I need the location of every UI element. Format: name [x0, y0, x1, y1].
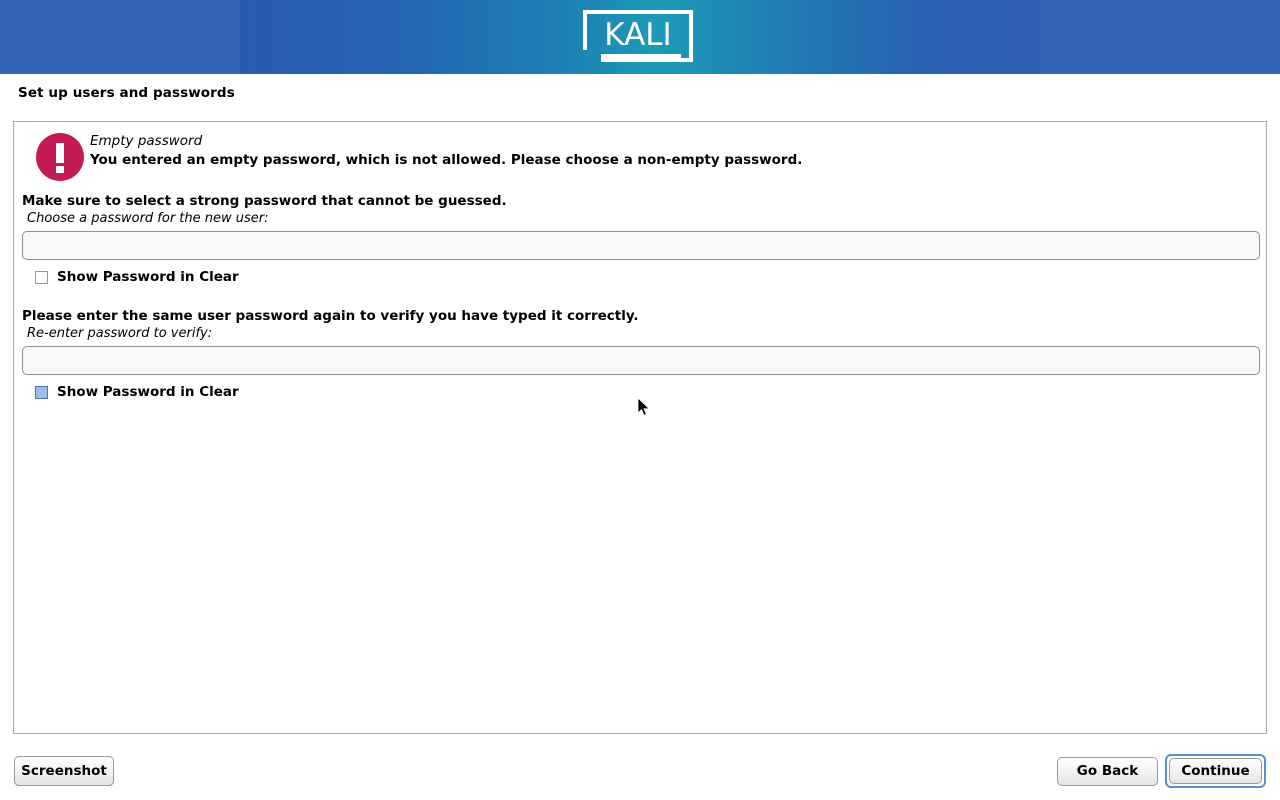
installer-screen: KALI Set up users and passwords Empty pa…	[0, 0, 1280, 800]
kali-banner: KALI	[0, 0, 1280, 74]
screenshot-button[interactable]: Screenshot	[14, 756, 114, 786]
show-password-checkbox-1[interactable]	[35, 271, 48, 284]
exclamation-dot	[56, 166, 64, 173]
kali-logo-text: KALI	[583, 10, 693, 62]
verify-password-input[interactable]	[22, 346, 1260, 375]
verify-password-section: Please enter the same user password agai…	[22, 308, 1260, 400]
show-password-label-1: Show Password in Clear	[57, 269, 239, 285]
password-field-label: Choose a password for the new user:	[27, 210, 1260, 227]
show-password-label-2: Show Password in Clear	[57, 384, 239, 400]
verify-field-label: Re-enter password to verify:	[27, 325, 1260, 342]
show-password-row-1[interactable]: Show Password in Clear	[22, 269, 1260, 285]
go-back-button[interactable]: Go Back	[1057, 757, 1158, 786]
content-panel: Empty password You entered an empty pass…	[13, 121, 1267, 734]
page-title: Set up users and passwords	[18, 85, 235, 101]
password-section-heading: Make sure to select a strong password th…	[22, 193, 1260, 210]
password-section: Make sure to select a strong password th…	[22, 193, 1260, 285]
password-input[interactable]	[22, 231, 1260, 260]
verify-section-heading: Please enter the same user password agai…	[22, 308, 1260, 325]
show-password-row-2[interactable]: Show Password in Clear	[22, 384, 1260, 400]
error-message: You entered an empty password, which is …	[90, 152, 802, 168]
error-title: Empty password	[90, 133, 202, 149]
error-exclamation-icon	[36, 133, 84, 181]
exclamation-stem	[56, 143, 64, 163]
show-password-checkbox-2[interactable]	[35, 386, 48, 399]
continue-button[interactable]: Continue	[1169, 758, 1262, 784]
continue-button-focus-ring: Continue	[1165, 754, 1266, 788]
kali-logo: KALI	[583, 10, 697, 66]
